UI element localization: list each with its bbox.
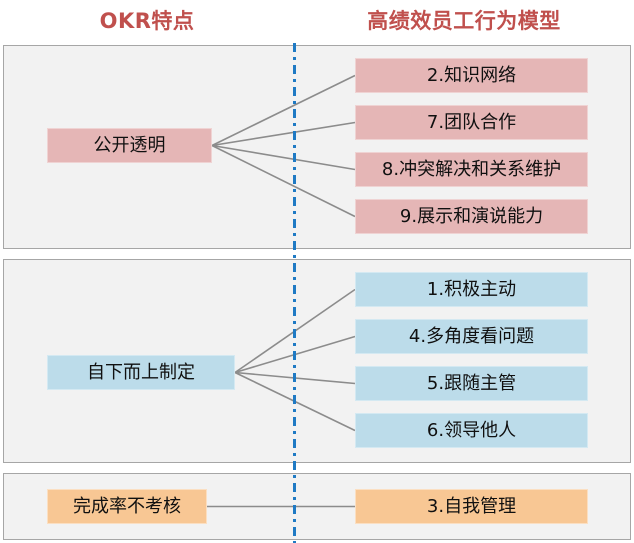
target-box-9-presentation-skill[interactable]: 9.展示和演说能力 (355, 199, 588, 234)
target-box-3-self-management[interactable]: 3.自我管理 (355, 489, 588, 524)
header-high-performer-model: 高绩效员工行为模型 (294, 6, 634, 36)
target-box-7-teamwork[interactable]: 7.团队合作 (355, 105, 588, 140)
target-box-4-multi-perspective[interactable]: 4.多角度看问题 (355, 319, 588, 354)
source-box-section-3[interactable]: 完成率不考核 (47, 489, 207, 524)
header-okr-features: OKR特点 (0, 6, 294, 36)
source-box-section-1[interactable]: 公开透明 (47, 128, 212, 163)
center-divider-line (293, 43, 296, 543)
target-box-6-lead-others[interactable]: 6.领导他人 (355, 413, 588, 448)
diagram-canvas: OKR特点 高绩效员工行为模型 公开透明 2.知识网络 7.团队合作 8.冲突解… (0, 0, 634, 543)
target-box-8-conflict-resolution[interactable]: 8.冲突解决和关系维护 (355, 152, 588, 187)
target-box-1-proactive[interactable]: 1.积极主动 (355, 272, 588, 307)
target-box-2-knowledge-network[interactable]: 2.知识网络 (355, 58, 588, 93)
target-box-5-follow-manager[interactable]: 5.跟随主管 (355, 366, 588, 401)
source-box-section-2[interactable]: 自下而上制定 (47, 355, 235, 390)
